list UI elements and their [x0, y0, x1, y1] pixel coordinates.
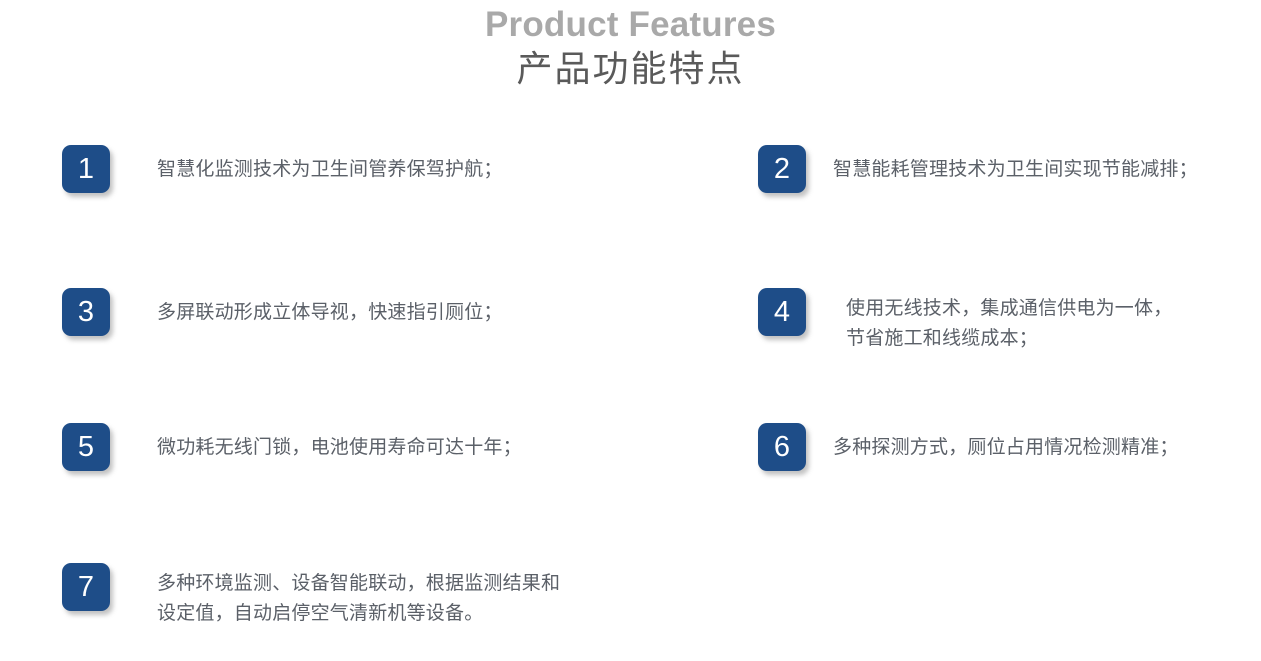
- feature-text-7: 多种环境监测、设备智能联动，根据监测结果和 设定值，自动启停空气清新机等设备。: [157, 563, 560, 628]
- feature-list: 1 智慧化监测技术为卫生间管养保驾护航； 2 智慧能耗管理技术为卫生间实现节能减…: [0, 0, 1261, 661]
- feature-text-1: 智慧化监测技术为卫生间管养保驾护航；: [157, 145, 503, 184]
- feature-text-5: 微功耗无线门锁，电池使用寿命可达十年；: [157, 423, 522, 462]
- feature-number-badge-6: 6: [758, 423, 806, 471]
- feature-text-3: 多屏联动形成立体导视，快速指引厕位；: [157, 288, 503, 327]
- feature-number-badge-4: 4: [758, 288, 806, 336]
- feature-number-badge-5: 5: [62, 423, 110, 471]
- feature-text-6: 多种探测方式，厕位占用情况检测精准；: [833, 423, 1179, 462]
- feature-item-4: 4 使用无线技术，集成通信供电为一体， 节省施工和线缆成本；: [758, 288, 1172, 353]
- feature-item-5: 5 微功耗无线门锁，电池使用寿命可达十年；: [62, 423, 522, 471]
- feature-item-1: 1 智慧化监测技术为卫生间管养保驾护航；: [62, 145, 503, 193]
- feature-number-badge-1: 1: [62, 145, 110, 193]
- feature-number-badge-2: 2: [758, 145, 806, 193]
- feature-text-4: 使用无线技术，集成通信供电为一体， 节省施工和线缆成本；: [846, 288, 1172, 353]
- feature-number-badge-3: 3: [62, 288, 110, 336]
- feature-item-3: 3 多屏联动形成立体导视，快速指引厕位；: [62, 288, 503, 336]
- feature-text-2: 智慧能耗管理技术为卫生间实现节能减排；: [833, 145, 1198, 184]
- feature-item-6: 6 多种探测方式，厕位占用情况检测精准；: [758, 423, 1179, 471]
- feature-item-7: 7 多种环境监测、设备智能联动，根据监测结果和 设定值，自动启停空气清新机等设备…: [62, 563, 560, 628]
- feature-item-2: 2 智慧能耗管理技术为卫生间实现节能减排；: [758, 145, 1198, 193]
- feature-number-badge-7: 7: [62, 563, 110, 611]
